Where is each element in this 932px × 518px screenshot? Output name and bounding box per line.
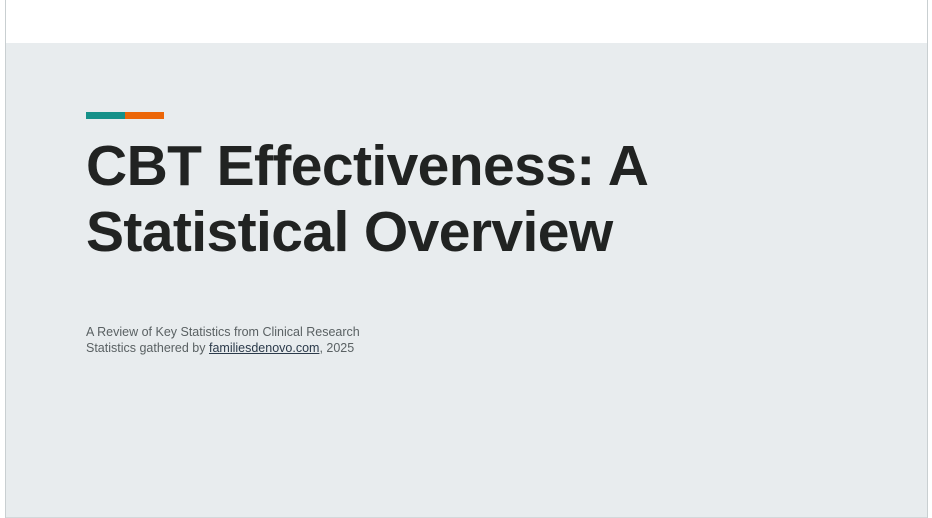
subtitle-line-2-prefix: Statistics gathered by <box>86 341 209 355</box>
subtitle-line-2-suffix: , 2025 <box>319 341 354 355</box>
title-slide[interactable]: CBT Effectiveness: A Statistical Overvie… <box>6 43 927 518</box>
slide-viewport: CBT Effectiveness: A Statistical Overvie… <box>0 0 932 518</box>
source-link[interactable]: familiesdenovo.com <box>209 341 319 355</box>
subtitle-line-1: A Review of Key Statistics from Clinical… <box>86 324 646 340</box>
slide-title: CBT Effectiveness: A Statistical Overvie… <box>86 133 706 265</box>
accent-rule-teal-segment <box>86 112 125 119</box>
subtitle-line-2: Statistics gathered by familiesdenovo.co… <box>86 340 646 356</box>
top-white-band <box>6 0 927 43</box>
accent-rule <box>86 112 164 119</box>
canvas-edge-right <box>927 0 932 518</box>
slide-subtitle: A Review of Key Statistics from Clinical… <box>86 324 646 356</box>
accent-rule-orange-segment <box>125 112 164 119</box>
slide-content-area: CBT Effectiveness: A Statistical Overvie… <box>86 43 887 517</box>
